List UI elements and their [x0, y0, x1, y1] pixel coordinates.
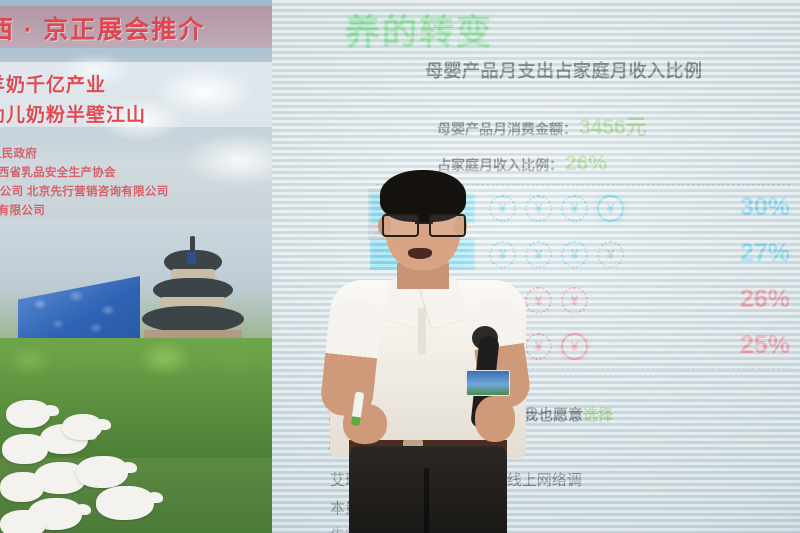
stat-monthly-spend-label: 母婴产品月消费金额： — [437, 121, 577, 137]
screenshot-root: 养的转变 母婴产品月支出占家庭月收入比例 母婴产品月消费金额：3456元 占家庭… — [0, 0, 800, 533]
goat-figure — [2, 434, 48, 464]
yuan-coin-icon: ¥ — [561, 195, 588, 222]
chart-value-label: 27% — [740, 239, 790, 268]
chart-value-label: 26% — [740, 285, 790, 314]
yuan-coin-icon: ¥ — [561, 241, 588, 268]
banner-org-3: 限公司 北京先行营销咨询有限公司 — [0, 183, 169, 199]
temple-roof-tier — [142, 306, 244, 332]
speaker-left-hand — [343, 404, 387, 444]
glasses-icon — [382, 214, 466, 233]
stat-monthly-spend: 母婴产品月消费金额：3456元 — [437, 111, 647, 141]
goat-figure — [62, 414, 102, 440]
banner-org-4: 份有限公司 — [0, 202, 45, 218]
yuan-coin-icon-muted: ¥ — [597, 241, 624, 268]
trouser-seam — [424, 468, 429, 533]
goat-figure — [96, 486, 154, 520]
yuan-coin-icon: ¥ — [561, 333, 588, 360]
temple-window — [187, 252, 196, 264]
event-banner: 西 · 京正展会推介 羊奶千亿产业 幼儿奶粉半壁江山 人民政府 陕西省乳品安全生… — [0, 0, 272, 533]
banner-title: 西 · 京正展会推介 — [0, 10, 272, 46]
speaker-shirt-placket — [418, 308, 426, 354]
speaker-mouth — [408, 248, 432, 259]
banner-headline-2: 幼儿奶粉半壁江山 — [0, 100, 146, 127]
goat-figure — [76, 456, 128, 488]
banner-org-2: 陕西省乳品安全生产协会 — [0, 164, 116, 180]
glasses-lens — [382, 214, 419, 237]
temple-of-heaven-graphic — [138, 236, 250, 348]
speaker-right-hand — [475, 396, 515, 442]
banner-photo-collage — [0, 218, 272, 533]
slide-title: 养的转变 — [345, 4, 493, 55]
stat-monthly-spend-value: 3456元 — [579, 116, 647, 139]
chart-value-label: 30% — [740, 193, 790, 222]
goat-figure — [6, 400, 50, 428]
yuan-coin-icon: ¥ — [561, 287, 588, 314]
water-cube-stadium-graphic — [18, 276, 140, 338]
stat-income-ratio-value: 26% — [565, 152, 607, 175]
yuan-coin-icon: ¥ — [597, 195, 624, 222]
banner-org-1: 人民政府 — [0, 145, 37, 161]
slide-subtitle: 母婴产品月支出占家庭月收入比例 — [425, 57, 703, 83]
speaker-figure — [325, 168, 530, 533]
goat-figure — [0, 472, 44, 502]
chart-value-label: 25% — [740, 331, 790, 360]
microphone-station-flag — [466, 370, 510, 396]
banner-headline-1: 羊奶千亿产业 — [0, 70, 106, 97]
goat-figure — [0, 510, 46, 533]
footnote-highlight-post: 选择 — [583, 407, 613, 424]
glasses-lens — [429, 214, 466, 237]
